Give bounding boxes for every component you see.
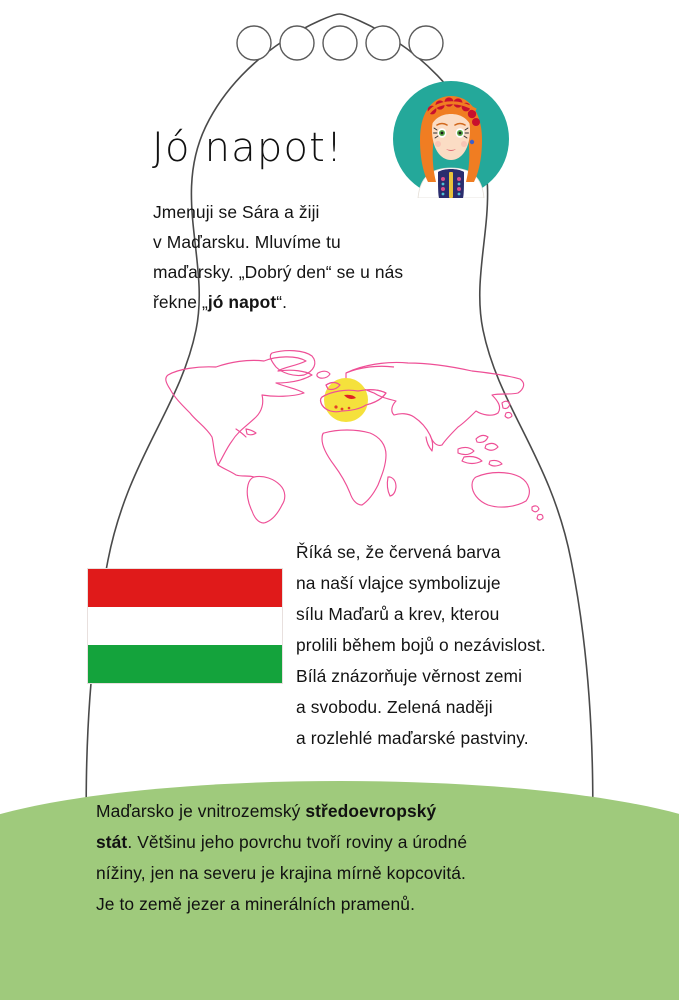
green-text-part1: Maďarsko je vnitrozemský bbox=[96, 801, 305, 821]
punch-hole-4 bbox=[366, 26, 400, 60]
hungary-flag bbox=[87, 568, 283, 684]
punch-hole-1 bbox=[237, 26, 271, 60]
girl-illustration bbox=[418, 96, 484, 198]
punch-hole-2 bbox=[280, 26, 314, 60]
flag-white-stripe bbox=[88, 607, 282, 645]
world-map bbox=[146, 345, 546, 525]
flag-text-line-4: prolili během bojů o nezávislost. bbox=[296, 630, 636, 661]
green-info-panel: Maďarsko je vnitrozemský středoevropský … bbox=[0, 762, 679, 1000]
matryoshka-page: Jó napot! bbox=[0, 0, 679, 1000]
flag-text-line-1: Říká se, že červená barva bbox=[296, 537, 636, 568]
flag-red-stripe bbox=[88, 569, 282, 607]
green-text-line-1: Maďarsko je vnitrozemský středoevropský bbox=[96, 796, 606, 827]
flag-text-line-6: a svobodu. Zelená naději bbox=[296, 692, 636, 723]
intro-paragraph: Jmenuji se Sára a žiji v Maďarsku. Mluví… bbox=[153, 197, 483, 317]
flag-text-line-2: na naší vlajce symbolizuje bbox=[296, 568, 636, 599]
flag-text-line-3: sílu Maďarů a krev, kterou bbox=[296, 599, 636, 630]
flag-description-paragraph: Říká se, že červená barva na naší vlajce… bbox=[296, 537, 636, 754]
world-map-svg bbox=[146, 345, 546, 525]
girl-portrait bbox=[392, 80, 510, 198]
green-text-bold2: stát bbox=[96, 832, 127, 852]
flag-text-line-7: a rozlehlé maďarské pastviny. bbox=[296, 723, 636, 754]
intro-line-4-prefix: řekne bbox=[153, 292, 202, 312]
green-text-line-2: stát. Většinu jeho povrchu tvoří roviny … bbox=[96, 827, 606, 858]
green-panel-text: Maďarsko je vnitrozemský středoevropský … bbox=[96, 796, 606, 920]
punch-hole-3 bbox=[323, 26, 357, 60]
flag-green-stripe bbox=[88, 645, 282, 683]
green-text-bold1: středoevropský bbox=[305, 801, 436, 821]
intro-line-2: v Maďarsku. Mluvíme tu bbox=[153, 227, 483, 257]
intro-line-1: Jmenuji se Sára a žiji bbox=[153, 197, 483, 227]
intro-line-4-suffix: . bbox=[282, 292, 287, 312]
flag-text-line-5: Bílá znázorňuje věrnost zemi bbox=[296, 661, 636, 692]
green-text-line-4: Je to země jezer a minerálních pramenů. bbox=[96, 889, 606, 920]
green-text-part2: . Většinu jeho povrchu tvoří roviny a úr… bbox=[127, 832, 467, 852]
green-text-line-3: nížiny, jen na severu je krajina mírně k… bbox=[96, 858, 606, 889]
punch-hole-5 bbox=[409, 26, 443, 60]
continent-outlines bbox=[166, 351, 543, 523]
map-highlight-circle bbox=[324, 378, 368, 422]
intro-phrase-bold: jó napot bbox=[208, 292, 276, 312]
page-title: Jó napot! bbox=[152, 128, 343, 168]
intro-line-4: řekne „jó napot“. bbox=[153, 287, 483, 317]
intro-line-3: maďarsky. „Dobrý den“ se u nás bbox=[153, 257, 483, 287]
